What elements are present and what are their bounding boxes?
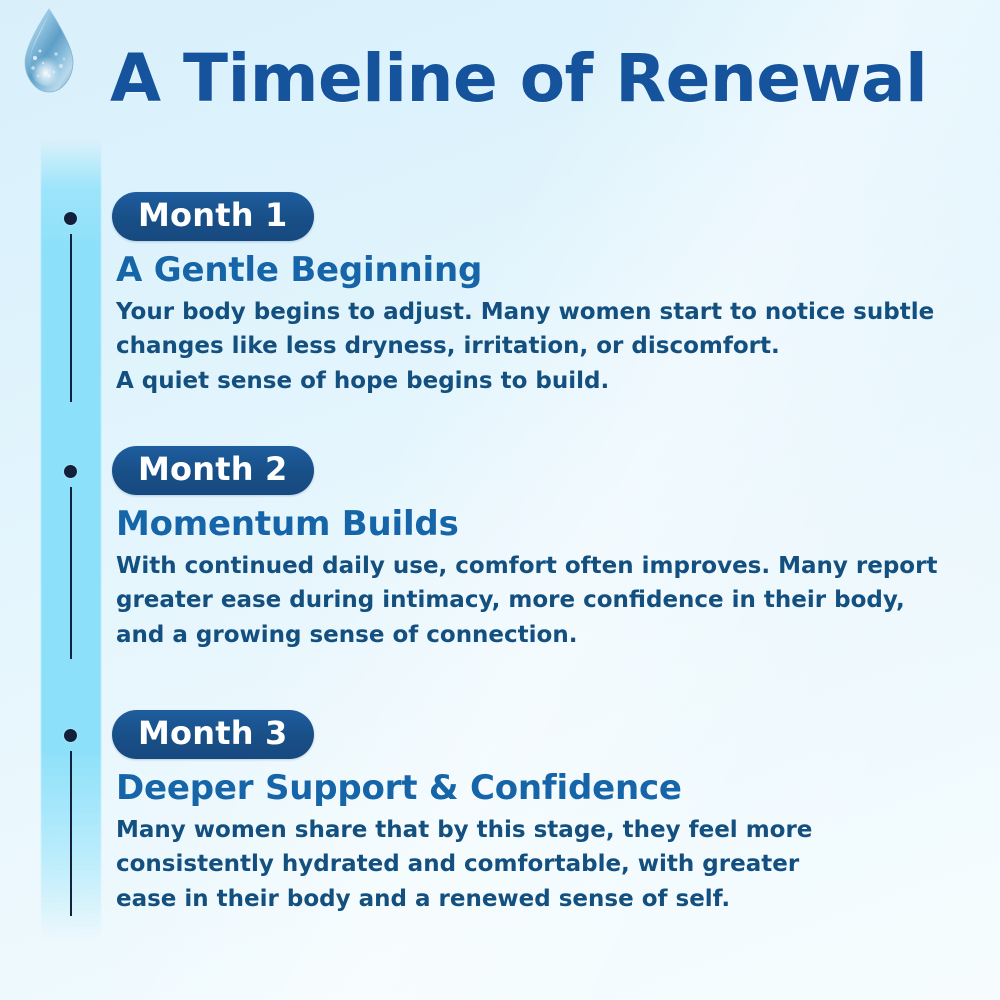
timeline-dot-3 bbox=[64, 729, 77, 742]
timeline-connector-2 bbox=[70, 487, 72, 659]
item-body-line: ease in their body and a renewed sense o… bbox=[116, 882, 946, 917]
timeline-item-1: Month 1 A Gentle Beginning Your body beg… bbox=[112, 192, 972, 398]
item-body-3: Many women share that by this stage, the… bbox=[116, 813, 946, 917]
timeline-connector-3 bbox=[70, 751, 72, 916]
timeline-marker-2 bbox=[64, 465, 78, 478]
item-body-line: changes like less dryness, irritation, o… bbox=[116, 329, 946, 364]
timeline-item-3: Month 3 Deeper Support & Confidence Many… bbox=[112, 710, 972, 916]
timeline-dot-2 bbox=[64, 465, 77, 478]
item-body-line: greater ease during intimacy, more confi… bbox=[116, 583, 946, 618]
month-badge-2: Month 2 bbox=[112, 446, 314, 495]
item-body-line: and a growing sense of connection. bbox=[116, 618, 946, 653]
item-body-line: A quiet sense of hope begins to build. bbox=[116, 364, 946, 399]
timeline-marker-3 bbox=[64, 729, 78, 742]
item-body-line: With continued daily use, comfort often … bbox=[116, 549, 946, 584]
item-heading-3: Deeper Support & Confidence bbox=[116, 770, 972, 807]
page-title: A Timeline of Renewal bbox=[110, 46, 980, 112]
item-heading-2: Momentum Builds bbox=[116, 506, 972, 543]
item-body-line: Your body begins to adjust. Many women s… bbox=[116, 295, 946, 330]
item-body-2: With continued daily use, comfort often … bbox=[116, 549, 946, 653]
item-heading-1: A Gentle Beginning bbox=[116, 252, 972, 289]
timeline-dot-1 bbox=[64, 212, 77, 225]
water-droplet-icon bbox=[16, 6, 82, 98]
month-badge-3: Month 3 bbox=[112, 710, 314, 759]
infographic-page: A Timeline of Renewal Month 1 A Gentle B… bbox=[0, 0, 1000, 1000]
item-body-1: Your body begins to adjust. Many women s… bbox=[116, 295, 946, 399]
timeline-connector-1 bbox=[70, 234, 72, 402]
month-badge-1: Month 1 bbox=[112, 192, 314, 241]
item-body-line: consistently hydrated and comfortable, w… bbox=[116, 847, 946, 882]
timeline-item-2: Month 2 Momentum Builds With continued d… bbox=[112, 446, 972, 652]
item-body-line: Many women share that by this stage, the… bbox=[116, 813, 946, 848]
timeline-marker-1 bbox=[64, 212, 78, 225]
